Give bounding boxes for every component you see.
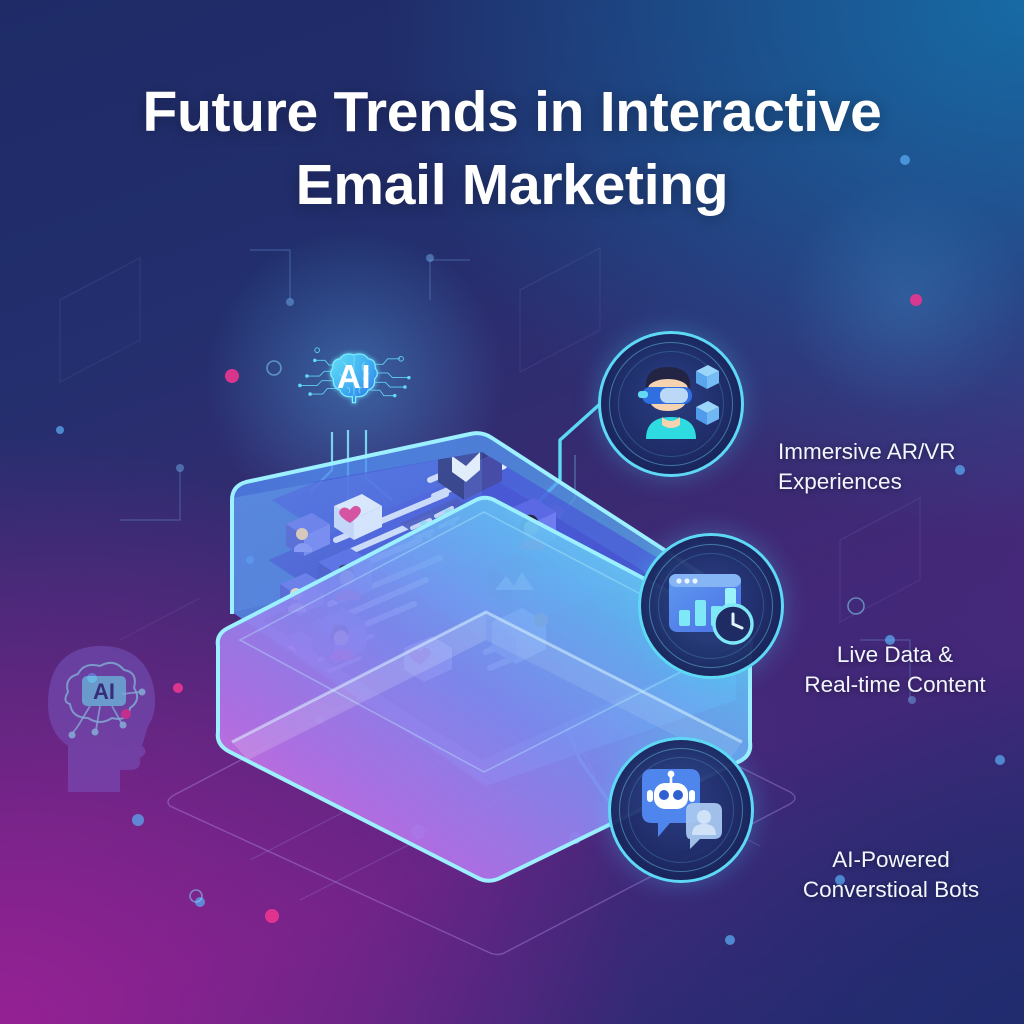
ai-head-silhouette: AI (38, 634, 178, 804)
feature-label-bots-line2: Converstioal Bots (762, 875, 1020, 905)
title-line-2: Email Marketing (0, 149, 1024, 222)
dashboard-chart-clock-icon (638, 533, 784, 679)
vr-headset-person-svg (616, 349, 726, 459)
infographic-canvas: Future Trends in Interactive Email Marke… (0, 0, 1024, 1024)
vr-headset-person-icon (598, 331, 744, 477)
ai-brain-svg (296, 326, 412, 430)
ai-head-svg: AI (38, 634, 178, 804)
dashboard-chart-clock-svg (657, 552, 765, 660)
page-title: Future Trends in Interactive Email Marke… (0, 76, 1024, 222)
feature-icon-arvr[interactable] (598, 331, 744, 477)
feature-label-live: Live Data & Real-time Content (770, 640, 1020, 699)
feature-label-arvr-line1: Immersive AR/VR (778, 437, 1018, 467)
feature-label-bots-line1: AI-Powered (762, 845, 1020, 875)
chatbot-speech-bubble-svg (628, 757, 734, 863)
connector-arvr (486, 404, 600, 520)
feature-label-arvr-line2: Experiences (778, 467, 1018, 497)
feature-icon-live[interactable] (638, 533, 784, 679)
feature-label-arvr: Immersive AR/VR Experiences (778, 437, 1018, 496)
svg-text:AI: AI (93, 679, 115, 704)
feature-label-bots: AI-Powered Converstioal Bots (762, 845, 1020, 904)
ai-brain: AI (296, 326, 412, 430)
feature-icon-bots[interactable] (608, 737, 754, 883)
feature-label-live-line2: Real-time Content (770, 670, 1020, 700)
connector-bots (512, 712, 608, 800)
feature-label-live-line1: Live Data & (770, 640, 1020, 670)
chatbot-speech-bubble-icon (608, 737, 754, 883)
title-line-1: Future Trends in Interactive (142, 80, 881, 144)
